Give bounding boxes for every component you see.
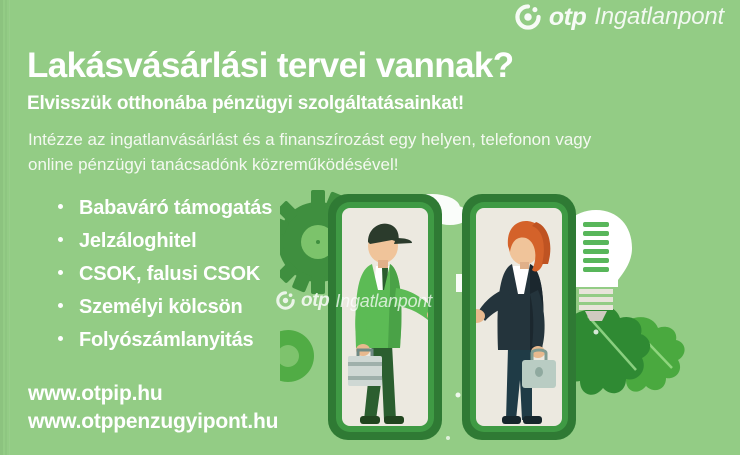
left-edge-strip (0, 0, 3, 455)
gear-icon-small (280, 330, 314, 382)
bullet-dot-icon (58, 237, 63, 242)
brand-logo[interactable]: otp Ingatlanpont (515, 4, 724, 30)
list-item-label: Folyószámlanyitás (79, 329, 253, 352)
bullet-dot-icon (58, 270, 63, 275)
advertisement-banner: otp Ingatlanpont Lakásvásárlási tervei v… (0, 0, 740, 455)
website-links: www.otpip.hu www.otppenzugyipont.hu (28, 380, 278, 436)
left-edge-strip-secondary (5, 0, 7, 455)
list-item: Személyi kölcsön (58, 296, 272, 329)
sparkle-dot (594, 330, 599, 335)
description-paragraph: Intézze az ingatlanvásárlást és a finans… (28, 128, 716, 177)
list-item: Babaváró támogatás (58, 197, 272, 230)
left-edge-highlight (9, 0, 10, 455)
list-item-label: Babaváró támogatás (79, 197, 272, 220)
list-item-label: Jelzáloghitel (79, 230, 196, 253)
bullet-dot-icon (58, 303, 63, 308)
bullet-dot-icon (58, 336, 63, 341)
list-item: CSOK, falusi CSOK (58, 263, 272, 296)
phone-left (328, 194, 445, 440)
sparkle-dot (456, 393, 461, 398)
brand-name-ingatlanpont: Ingatlanpont (594, 5, 724, 29)
list-item-label: Személyi kölcsön (79, 296, 243, 319)
services-list: Babaváró támogatás Jelzáloghitel CSOK, f… (58, 197, 272, 362)
illustration-artwork (280, 170, 740, 455)
paragraph-line-2: online pénzügyi tanácsadónk közreműködés… (28, 153, 716, 178)
subtitle: Elvisszük otthonába pénzügyi szolgáltatá… (27, 94, 464, 115)
paragraph-line-1: Intézze az ingatlanvásárlást és a finans… (28, 130, 591, 149)
otp-circle-logo-icon (515, 4, 541, 30)
sparkle-dot (446, 436, 450, 440)
website-link-otpip[interactable]: www.otpip.hu (28, 380, 278, 408)
list-item: Jelzáloghitel (58, 230, 272, 263)
website-link-otppenzugyipont[interactable]: www.otppenzugyipont.hu (28, 408, 278, 436)
page-title: Lakásvásárlási tervei vannak? (27, 48, 514, 85)
list-item-label: CSOK, falusi CSOK (79, 263, 260, 286)
list-item: Folyószámlanyitás (58, 329, 272, 362)
bullet-dot-icon (58, 204, 63, 209)
phone-right (462, 194, 576, 440)
brand-name-otp: otp (549, 5, 586, 30)
